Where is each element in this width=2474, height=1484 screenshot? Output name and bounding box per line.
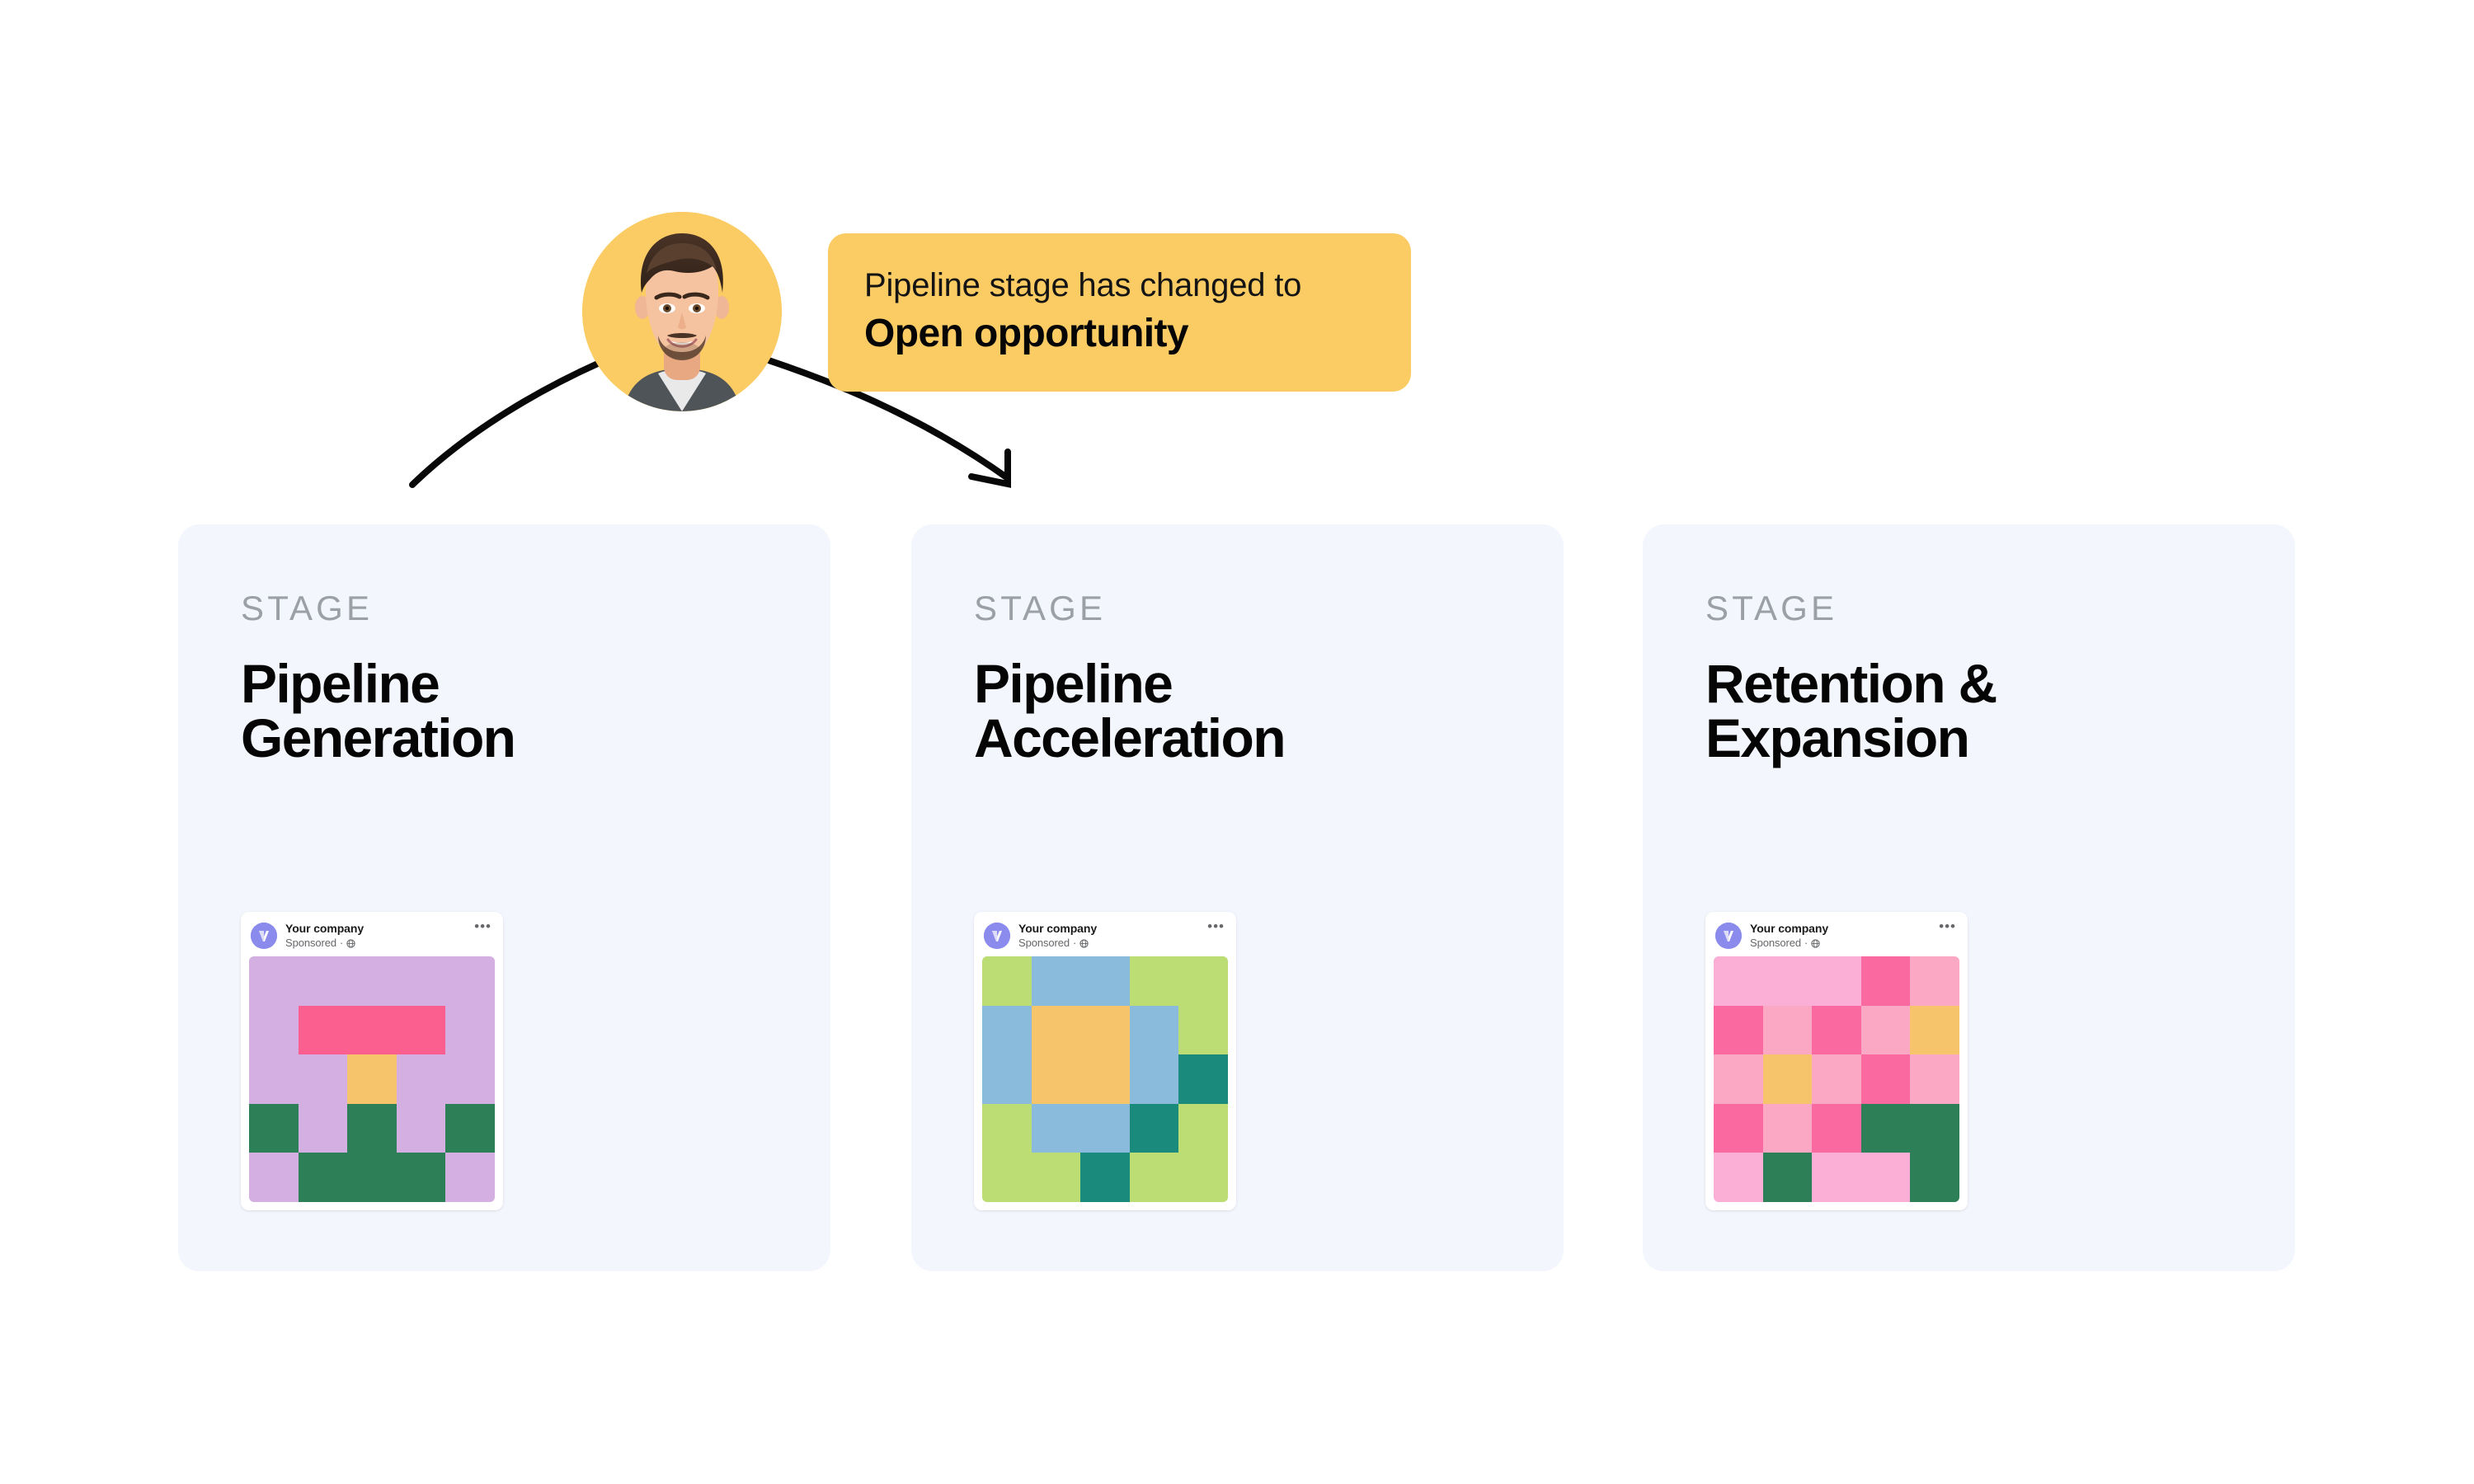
- ad-grid-cell: [1812, 956, 1861, 1006]
- ad-creative-grid: [249, 956, 495, 1202]
- ad-grid-cell: [1763, 956, 1813, 1006]
- ad-grid-cell: [1714, 956, 1763, 1006]
- ad-grid-cell: [347, 1054, 397, 1104]
- ad-company-name: Your company: [1018, 922, 1097, 935]
- stage-title-line: Acceleration: [974, 711, 1502, 765]
- ad-grid-cell: [1130, 1153, 1179, 1202]
- ad-preview-card[interactable]: Your companySponsored·•••: [1705, 912, 1968, 1210]
- ad-preview-header: Your companySponsored·•••: [982, 920, 1228, 956]
- ad-grid-cell: [1861, 1054, 1911, 1104]
- ad-grid-cell: [1178, 1006, 1228, 1055]
- ad-grid-cell: [445, 1006, 495, 1055]
- ad-grid-cell: [1080, 1054, 1130, 1104]
- stage-title-line: Retention &: [1705, 656, 2233, 711]
- ad-grid-cell: [1714, 1153, 1763, 1202]
- ad-sponsored-label: Sponsored: [1018, 937, 1070, 949]
- stage-eyebrow: STAGE: [241, 590, 830, 627]
- ad-grid-cell: [249, 1054, 299, 1104]
- ad-grid-cell: [1861, 1153, 1911, 1202]
- stage-title-line: Pipeline: [241, 656, 769, 711]
- ad-creative-grid: [982, 956, 1228, 1202]
- ad-grid-cell: [1080, 1006, 1130, 1055]
- arrow-left-curve: [412, 363, 600, 485]
- ad-grid-cell: [1130, 1104, 1179, 1153]
- ad-grid-cell: [1130, 956, 1179, 1006]
- ad-grid-cell: [445, 1104, 495, 1153]
- ad-grid-cell: [1812, 1153, 1861, 1202]
- globe-icon: [346, 938, 355, 947]
- ad-company-name: Your company: [285, 922, 364, 935]
- ad-grid-cell: [1178, 1104, 1228, 1153]
- ad-grid-cell: [347, 1153, 397, 1202]
- ad-grid-cell: [347, 1104, 397, 1153]
- ad-grid-cell: [1714, 1054, 1763, 1104]
- ad-grid-cell: [1080, 1153, 1130, 1202]
- ad-sponsored-label: Sponsored: [285, 937, 336, 949]
- stage-card-1[interactable]: STAGEPipelineAccelerationYour companySpo…: [911, 524, 1564, 1271]
- ad-grid-cell: [299, 956, 348, 1006]
- ad-grid-cell: [1032, 1054, 1081, 1104]
- globe-icon: [1079, 938, 1089, 947]
- ad-grid-cell: [1178, 1153, 1228, 1202]
- ad-grid-cell: [1861, 956, 1911, 1006]
- ad-grid-cell: [397, 1104, 446, 1153]
- globe-icon: [1811, 938, 1820, 947]
- stage-eyebrow: STAGE: [974, 590, 1564, 627]
- ad-grid-cell: [445, 1054, 495, 1104]
- ad-grid-cell: [1080, 956, 1130, 1006]
- ad-grid-cell: [1714, 1104, 1763, 1153]
- ad-grid-cell: [1861, 1104, 1911, 1153]
- ad-grid-cell: [1812, 1104, 1861, 1153]
- ad-grid-cell: [982, 1054, 1032, 1104]
- ad-grid-cell: [445, 956, 495, 1006]
- stage-card-2[interactable]: STAGERetention &ExpansionYour companySpo…: [1643, 524, 2295, 1271]
- ad-grid-cell: [982, 1104, 1032, 1153]
- stage-title-line: Pipeline: [974, 656, 1502, 711]
- ad-grid-cell: [249, 1006, 299, 1055]
- ad-grid-cell: [299, 1153, 348, 1202]
- stage-title-line: Generation: [241, 711, 769, 765]
- avatar: [582, 212, 782, 411]
- stage-title-line: Expansion: [1705, 711, 2233, 765]
- ad-preview-card[interactable]: Your companySponsored·•••: [241, 912, 503, 1210]
- ad-grid-cell: [982, 956, 1032, 1006]
- ad-grid-cell: [1763, 1006, 1813, 1055]
- company-logo-icon: [251, 923, 277, 949]
- ad-sponsored-label: Sponsored: [1750, 937, 1801, 949]
- ad-grid-cell: [1130, 1006, 1179, 1055]
- ad-menu-icon[interactable]: •••: [474, 922, 492, 932]
- ad-grid-cell: [1910, 1006, 1959, 1055]
- stage-eyebrow: STAGE: [1705, 590, 2295, 627]
- ad-grid-cell: [1032, 956, 1081, 1006]
- ad-grid-cell: [249, 1104, 299, 1153]
- ad-grid-cell: [1812, 1006, 1861, 1055]
- ad-grid-cell: [397, 1054, 446, 1104]
- separator-dot: ·: [340, 937, 343, 949]
- ad-grid-cell: [397, 1006, 446, 1055]
- separator-dot: ·: [1073, 937, 1076, 949]
- ad-grid-cell: [1032, 1153, 1081, 1202]
- ad-grid-cell: [1714, 1006, 1763, 1055]
- ad-grid-cell: [249, 956, 299, 1006]
- ad-grid-cell: [1910, 1054, 1959, 1104]
- pipeline-stage-notification: Pipeline stage has changed to Open oppor…: [828, 233, 1411, 392]
- ad-creative-grid: [1714, 956, 1959, 1202]
- ad-sponsored-row: Sponsored·: [285, 937, 355, 949]
- company-logo-icon: [984, 923, 1010, 949]
- ad-grid-cell: [982, 1153, 1032, 1202]
- ad-grid-cell: [347, 1006, 397, 1055]
- ad-grid-cell: [1032, 1006, 1081, 1055]
- stage-title: Retention &Expansion: [1705, 656, 2233, 765]
- ad-grid-cell: [397, 956, 446, 1006]
- ad-grid-cell: [445, 1153, 495, 1202]
- ad-sponsored-row: Sponsored·: [1018, 937, 1089, 949]
- notification-message: Pipeline stage has changed to: [864, 265, 1411, 306]
- ad-preview-header: Your companySponsored·•••: [249, 920, 495, 956]
- ad-company-name: Your company: [1750, 922, 1828, 935]
- stage-title: PipelineGeneration: [241, 656, 769, 765]
- ad-grid-cell: [1910, 1104, 1959, 1153]
- ad-menu-icon[interactable]: •••: [1939, 922, 1956, 932]
- arrow-head-icon: [971, 452, 1008, 484]
- ad-grid-cell: [1763, 1054, 1813, 1104]
- ad-preview-header: Your companySponsored·•••: [1714, 920, 1959, 956]
- ad-grid-cell: [982, 1006, 1032, 1055]
- ad-grid-cell: [249, 1153, 299, 1202]
- ad-grid-cell: [397, 1153, 446, 1202]
- ad-grid-cell: [1763, 1104, 1813, 1153]
- ad-grid-cell: [347, 956, 397, 1006]
- ad-grid-cell: [1910, 1153, 1959, 1202]
- ad-menu-icon[interactable]: •••: [1207, 922, 1225, 932]
- ad-grid-cell: [299, 1104, 348, 1153]
- stage-card-0[interactable]: STAGEPipelineGenerationYour companySpons…: [178, 524, 830, 1271]
- ad-grid-cell: [1032, 1104, 1081, 1153]
- ad-grid-cell: [1910, 956, 1959, 1006]
- ad-grid-cell: [1178, 1054, 1228, 1104]
- ad-sponsored-row: Sponsored·: [1750, 937, 1820, 949]
- ad-preview-card[interactable]: Your companySponsored·•••: [974, 912, 1236, 1210]
- ad-grid-cell: [1080, 1104, 1130, 1153]
- company-logo-icon: [1715, 923, 1742, 949]
- notification-stage-value: Open opportunity: [864, 309, 1411, 359]
- stage-title: PipelineAcceleration: [974, 656, 1502, 765]
- ad-grid-cell: [299, 1054, 348, 1104]
- ad-grid-cell: [299, 1006, 348, 1055]
- ad-grid-cell: [1178, 956, 1228, 1006]
- ad-grid-cell: [1130, 1054, 1179, 1104]
- ad-grid-cell: [1763, 1153, 1813, 1202]
- ad-grid-cell: [1861, 1006, 1911, 1055]
- separator-dot: ·: [1804, 937, 1808, 949]
- ad-grid-cell: [1812, 1054, 1861, 1104]
